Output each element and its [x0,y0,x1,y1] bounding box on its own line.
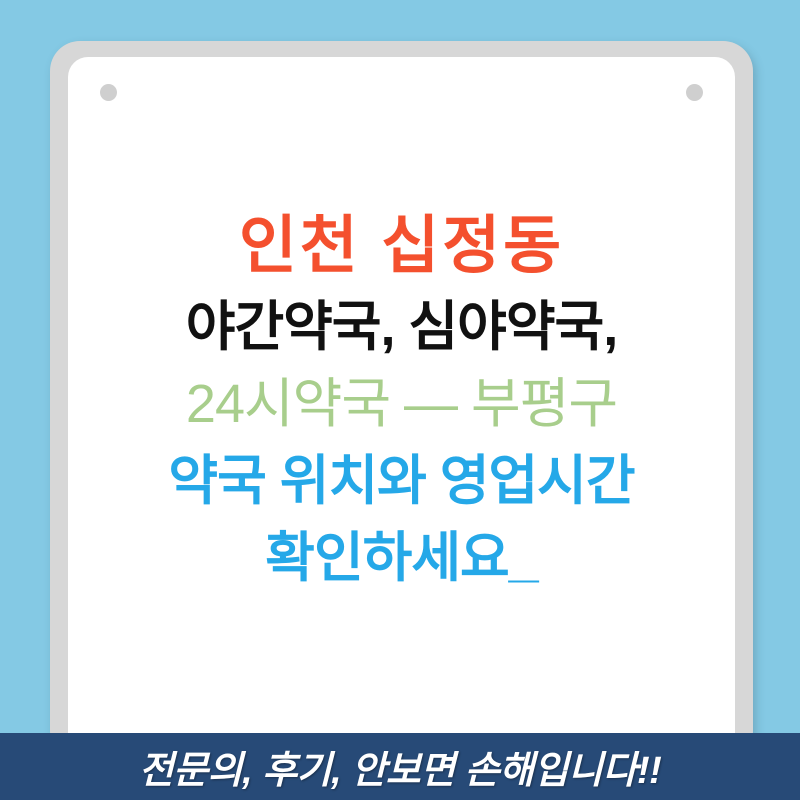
right-pin-dot-icon [686,84,703,101]
card-sheet: 인천 십정동 야간약국, 심야약국, 24시약국 — 부평구 약국 위치와 영업… [68,57,735,747]
bottom-banner: 전문의, 후기, 안보면 손해입니다!! [0,733,800,800]
headline-line-district: 24시약국 — 부평구 [76,366,727,443]
card-frame: 인천 십정동 야간약국, 심야약국, 24시약국 — 부평구 약국 위치와 영업… [50,41,753,761]
left-pin-dot-icon [100,84,117,101]
bottom-banner-text: 전문의, 후기, 안보면 손해입니다!! [139,739,662,794]
headline-line-callout: 확인하세요_ [76,520,727,597]
headline-line-location: 인천 십정동 [76,203,727,289]
poster-canvas: 인천 십정동 야간약국, 심야약국, 24시약국 — 부평구 약국 위치와 영업… [0,0,800,800]
headline-line-topic: 약국 위치와 영업시간 [76,443,727,520]
headline-block: 인천 십정동 야간약국, 심야약국, 24시약국 — 부평구 약국 위치와 영업… [68,203,735,597]
headline-line-keywords: 야간약국, 심야약국, [76,289,727,366]
